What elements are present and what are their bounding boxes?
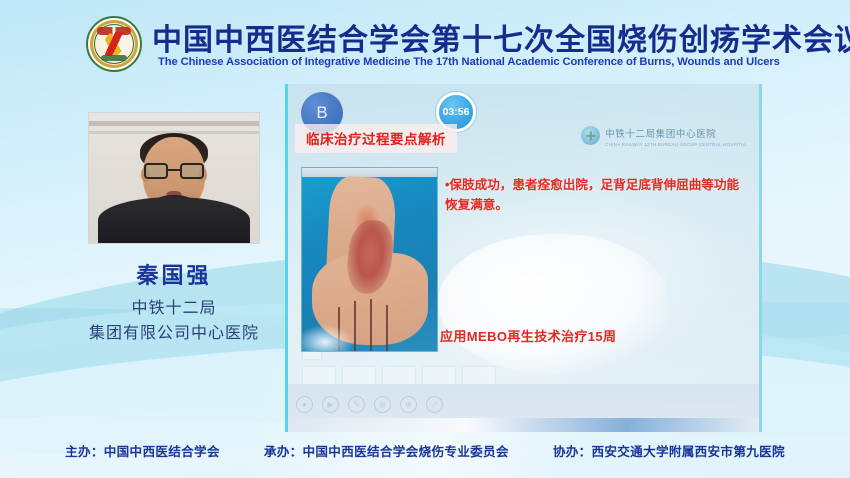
control-expand-icon[interactable]: ↗: [426, 396, 443, 413]
control-record-icon[interactable]: ●: [296, 396, 313, 413]
slide-title-banner: 临床治疗过程要点解析: [295, 124, 457, 153]
control-pen-icon[interactable]: ✎: [348, 396, 365, 413]
speaker-org-line1: 中铁十二局: [88, 297, 260, 322]
footer-credits: 主办：中国中西医结合学会 承办：中国中西医结合学会烧伤专业委员会 协办：西安交通…: [0, 441, 850, 460]
glasses-icon: [144, 163, 204, 180]
control-grid-icon[interactable]: ⊞: [374, 396, 391, 413]
control-play-icon[interactable]: ▶: [322, 396, 339, 413]
footer-host: 主办：中国中西医结合学会: [65, 441, 220, 460]
speaker-org-line2: 集团有限公司中心医院: [88, 322, 260, 347]
speaker-name: 秦国强: [88, 258, 260, 290]
slide-controls-toolbar[interactable]: ● ▶ ✎ ⊞ ⊕ ↗: [296, 396, 443, 413]
hand-photo-decoration: [438, 234, 668, 374]
hospital-cross-icon: [581, 126, 600, 145]
conference-title-zh: 中国中西医结合学会第十七次全国烧伤创疡学术会议: [152, 15, 850, 59]
slide-caption-text: 应用MEBO再生技术治疗15周: [440, 326, 616, 345]
conference-title-en: The Chinese Association of Integrative M…: [158, 56, 780, 68]
presentation-slide-panel[interactable]: B 03:56 临床治疗过程要点解析 中铁十二局集团中心医院 CHINA RAI…: [285, 84, 762, 432]
speaker-webcam-video[interactable]: [88, 112, 260, 244]
hospital-logo-subtitle: CHINA RAILWAY 12TH BUREAU GROUP CENTRAL …: [605, 142, 747, 147]
hospital-logo: 中铁十二局集团中心医院 CHINA RAILWAY 12TH BUREAU GR…: [581, 124, 747, 147]
cami-emblem-logo-icon: [86, 16, 142, 72]
clinical-foot-photo: [301, 167, 438, 352]
control-zoom-icon[interactable]: ⊕: [400, 396, 417, 413]
footer-coorganizer: 协办：西安交通大学附属西安市第九医院: [553, 441, 785, 460]
hospital-logo-name: 中铁十二局集团中心医院: [605, 129, 716, 140]
slide-bullet-text: •保肢成功，患者痊愈出院，足背足底背伸屈曲等功能恢复满意。: [445, 176, 745, 215]
footer-organizer: 承办：中国中西医结合学会烧伤专业委员会: [264, 441, 509, 460]
speaker-organization: 中铁十二局 集团有限公司中心医院: [88, 297, 260, 347]
speaker-panel: 秦国强 中铁十二局 集团有限公司中心医院: [88, 112, 260, 347]
page-header: 中国中西医结合学会第十七次全国烧伤创疡学术会议 The Chinese Asso…: [0, 0, 850, 84]
slide-bottom-glow: [288, 418, 759, 432]
